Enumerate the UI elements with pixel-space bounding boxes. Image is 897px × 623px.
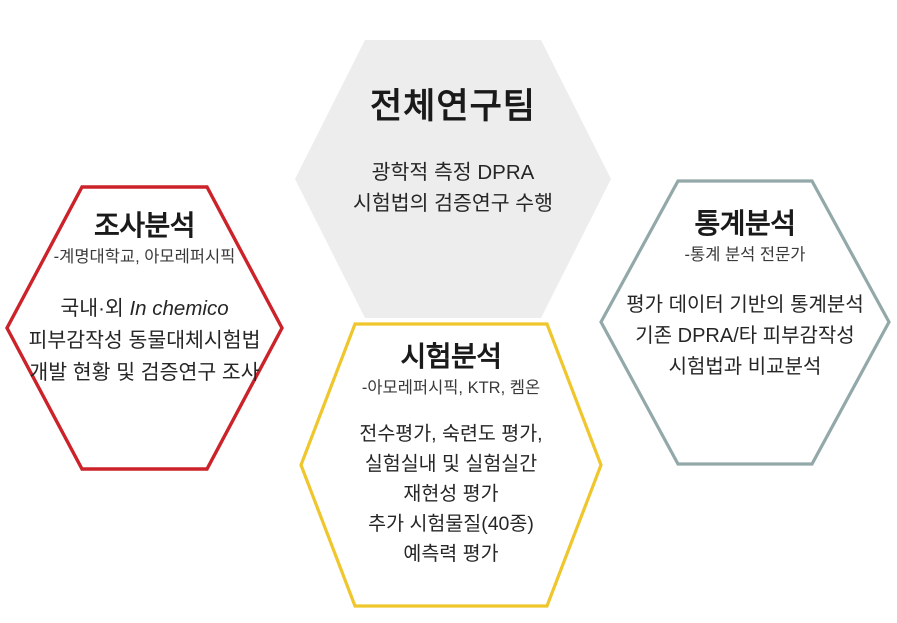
hex-node-survey-analysis-team[interactable]: 조사분석 -계명대학교, 아모레퍼시픽 국내·외 In chemico 피부감작… <box>4 184 285 472</box>
hexagon-shape-center <box>293 38 613 320</box>
diagram-canvas: 전체연구팀 광학적 측정 DPRA 시험법의 검증연구 수행 조사분석 -계명대… <box>0 0 897 623</box>
hex-node-whole-research-team[interactable]: 전체연구팀 광학적 측정 DPRA 시험법의 검증연구 수행 <box>293 38 613 320</box>
hexagon-shape-right <box>598 178 892 467</box>
hexagon-shape-left <box>4 184 285 472</box>
hex-node-test-analysis-team[interactable]: 시험분석 -아모레퍼시픽, KTR, 켐온 전수평가, 숙련도 평가, 실험실내… <box>298 321 604 609</box>
hexagon-shape-bottom <box>298 321 604 609</box>
hex-node-statistical-analysis-team[interactable]: 통계분석 -통계 분석 전문가 평가 데이터 기반의 통계분석 기존 DPRA/… <box>598 178 892 467</box>
